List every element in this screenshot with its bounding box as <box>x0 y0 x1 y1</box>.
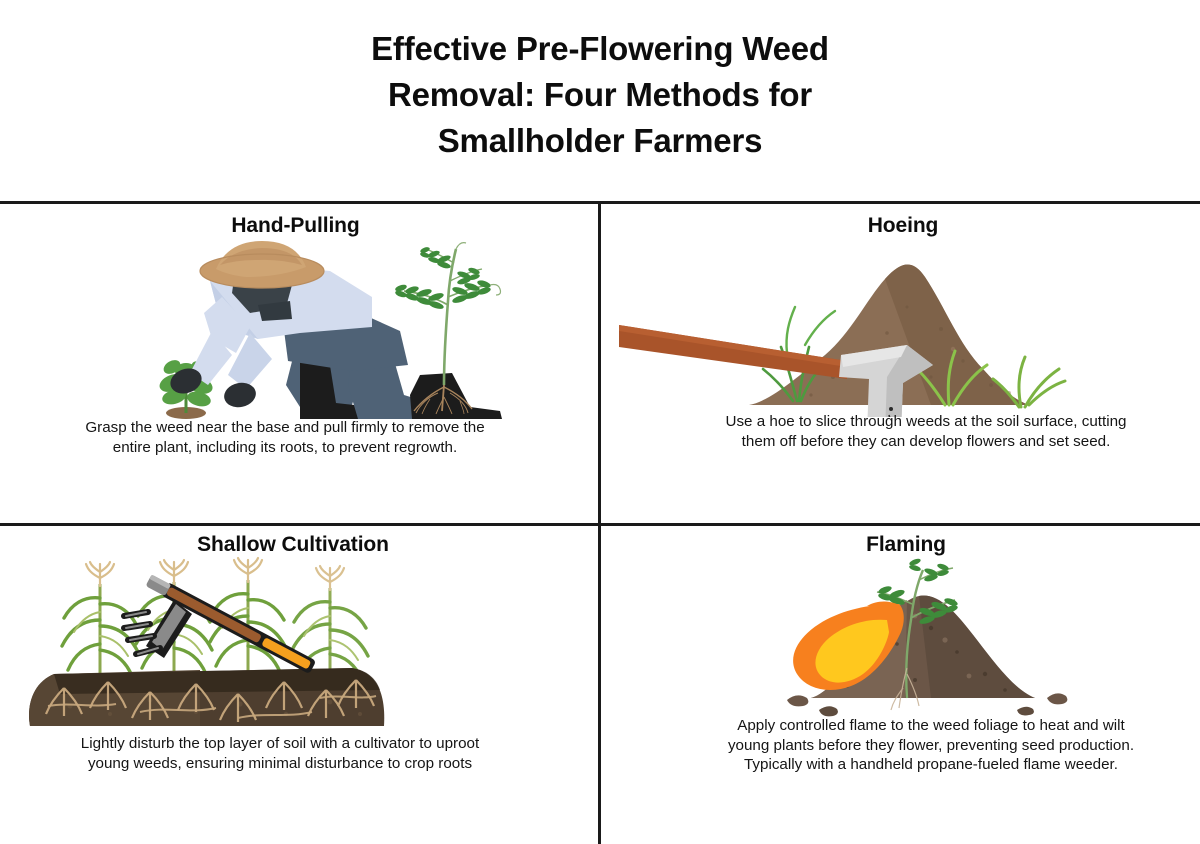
title-line-2: Removal: Four Methods for <box>0 72 1200 118</box>
flame-on-weed-soil-mound-icon <box>601 548 1199 718</box>
uprooted-weed-with-roots-icon <box>386 235 516 415</box>
cultivator-rake-in-corn-bed-icon <box>0 556 598 736</box>
panel-heading-hoeing: Hoeing <box>607 207 1199 238</box>
panel-flaming: Flaming <box>601 526 1199 844</box>
hoe-blade-in-soil-mound-icon <box>601 237 1199 417</box>
methods-grid: Hand-Pulling <box>0 201 1200 844</box>
panel-shallow-cultivation: Shallow Cultivation <box>0 526 598 844</box>
title-line-1: Effective Pre-Flowering Weed <box>0 26 1200 72</box>
panel-heading-shallow-cultivation: Shallow Cultivation <box>0 526 598 557</box>
panel-caption-hand-pulling: Grasp the weed near the base and pull fi… <box>55 418 515 457</box>
panel-caption-flaming: Apply controlled flame to the weed folia… <box>701 716 1161 775</box>
panel-caption-shallow-cultivation: Lightly disturb the top layer of soil wi… <box>50 734 510 773</box>
panel-hand-pulling: Hand-Pulling <box>0 207 598 523</box>
panel-heading-hand-pulling: Hand-Pulling <box>0 207 598 238</box>
panel-hoeing: Hoeing <box>601 207 1199 523</box>
title-line-3: Smallholder Farmers <box>0 118 1200 164</box>
panel-caption-hoeing: Use a hoe to slice through weeds at the … <box>696 412 1156 451</box>
page-title: Effective Pre-Flowering Weed Removal: Fo… <box>0 0 1200 164</box>
